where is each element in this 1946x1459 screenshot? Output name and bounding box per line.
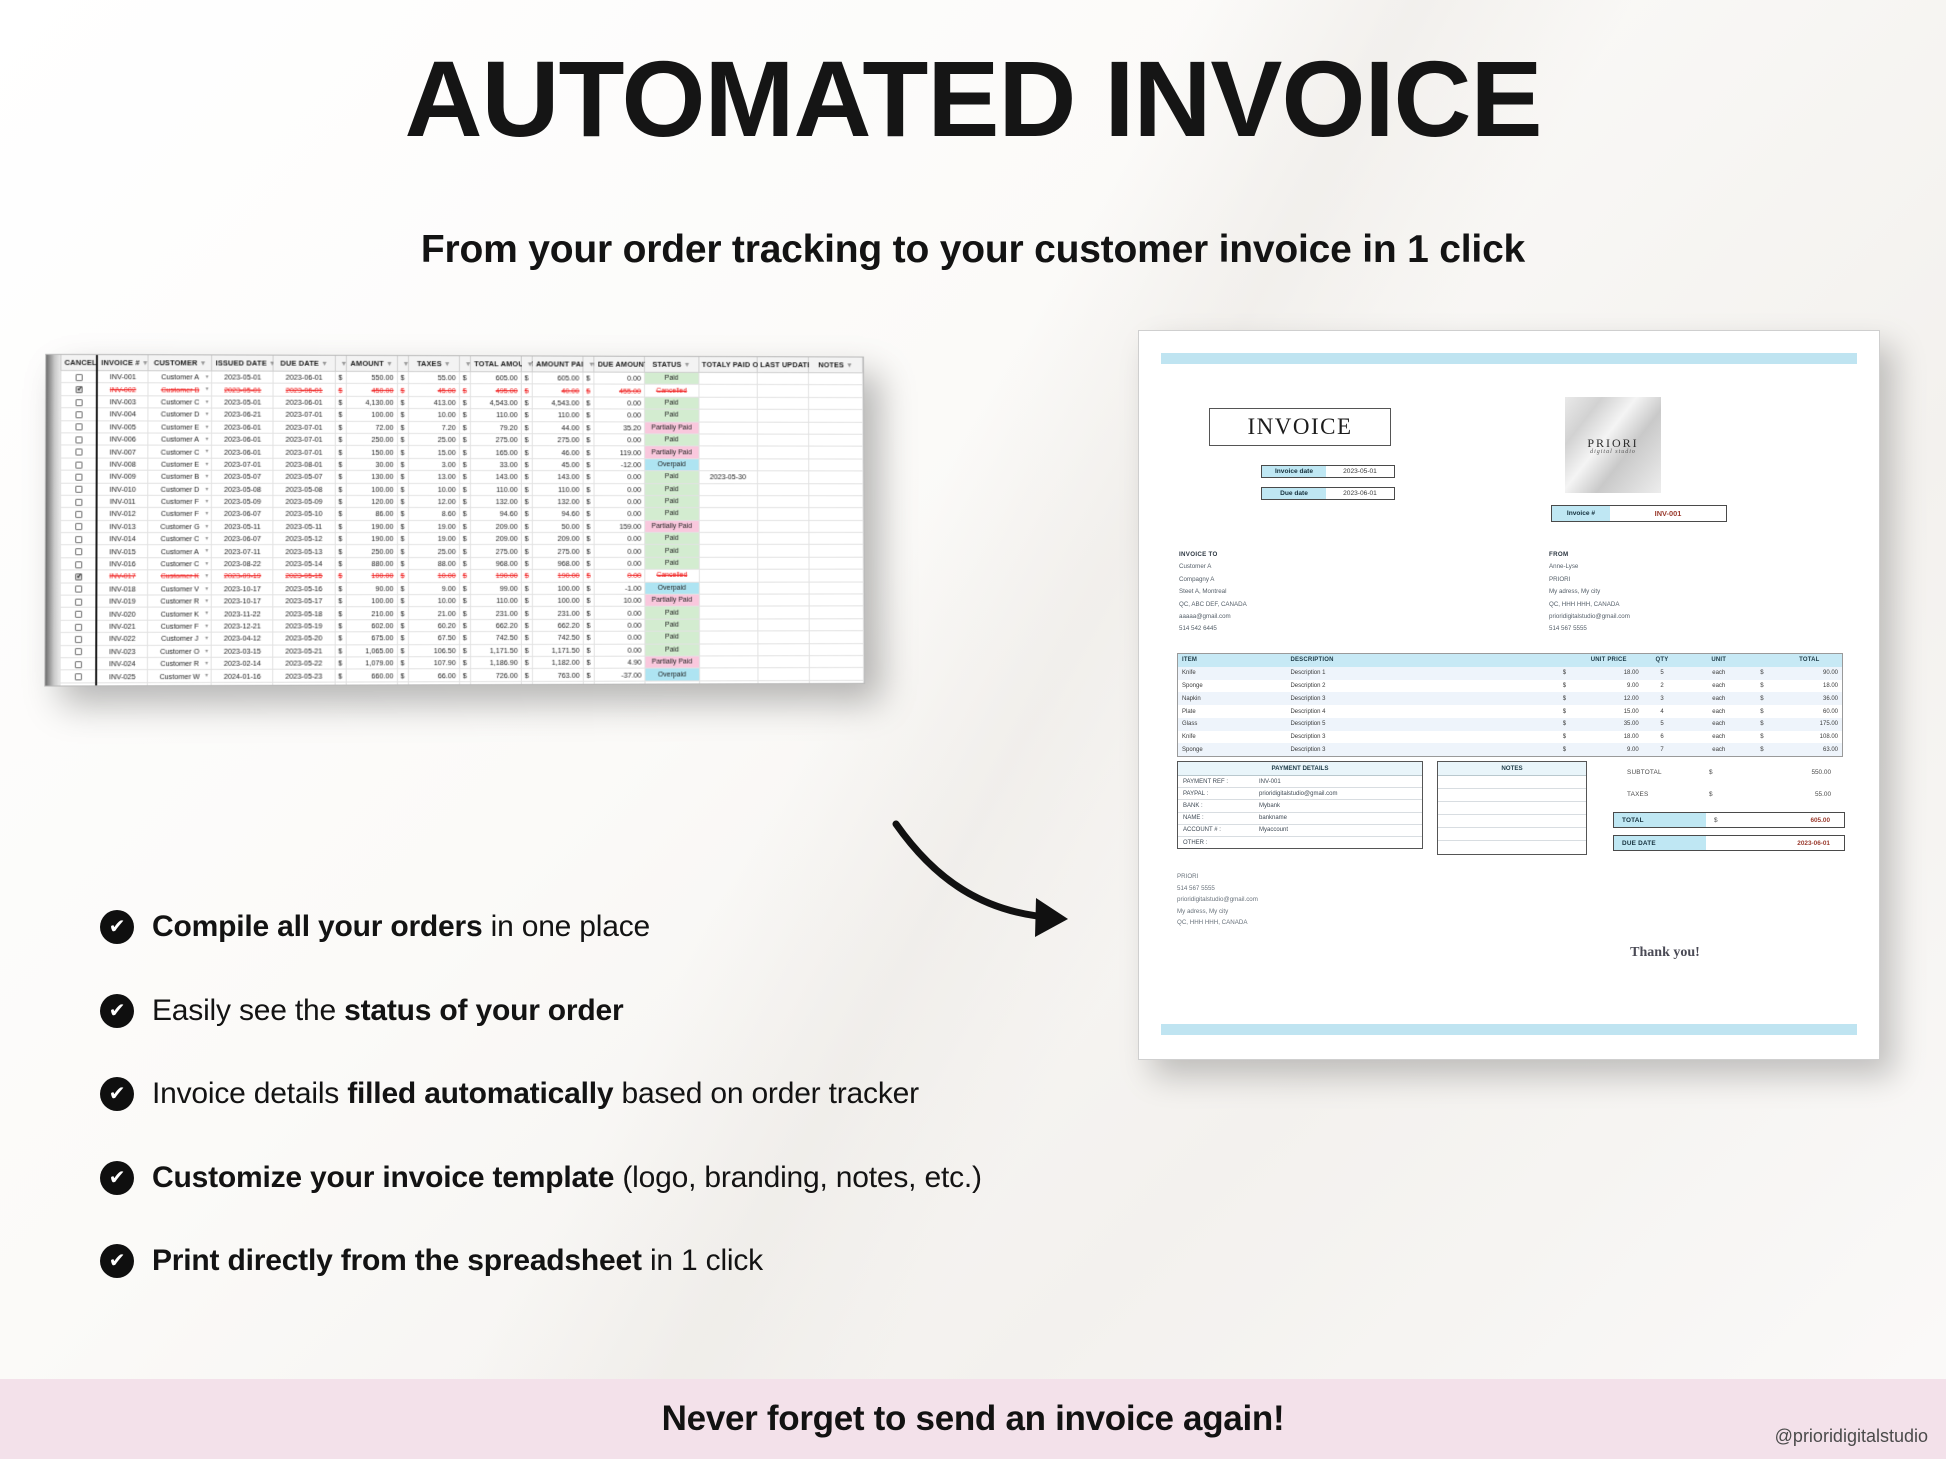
table-row[interactable]: INV-009Customer B▾2023-05-072023-05-07$1… (61, 470, 863, 483)
invoice-number-cell[interactable]: INV-007 (97, 445, 148, 458)
cancel-cell[interactable] (60, 583, 96, 596)
due-amount-cell[interactable]: 0.00 (595, 644, 645, 657)
due-amount-cell[interactable]: 0.00 (594, 434, 644, 446)
column-header-totaly-paid-on[interactable]: TOTALY PAID ON▼ (699, 357, 757, 373)
notes-cell[interactable] (809, 397, 863, 409)
totally-paid-on-cell[interactable] (699, 643, 757, 655)
amount-paid-cell[interactable]: 190.00 (533, 570, 583, 582)
amount-cell[interactable]: 150.00 (346, 446, 397, 458)
status-badge[interactable]: Paid (645, 557, 699, 569)
cancel-cell[interactable] (60, 545, 96, 558)
due-amount-cell[interactable]: 10.00 (595, 594, 645, 606)
total-amount-cell[interactable]: 132.00 (471, 495, 521, 507)
filter-icon[interactable]: ▼ (444, 361, 451, 368)
amount-paid-cell[interactable]: 319.00 (533, 681, 583, 685)
invoice-number-cell[interactable]: INV-022 (97, 632, 148, 645)
total-amount-cell[interactable]: 275.00 (471, 434, 521, 446)
cancel-cell[interactable] (61, 458, 97, 471)
cancel-checkbox[interactable] (75, 511, 82, 518)
total-amount-cell[interactable]: 1,171.50 (471, 644, 521, 657)
issued-date-cell[interactable]: 2024-01-16 (212, 670, 274, 683)
amount-cell[interactable]: 602.00 (346, 620, 397, 633)
due-date-cell[interactable]: 2023-05-12 (273, 533, 334, 545)
status-badge[interactable]: Cancelled (645, 570, 699, 582)
amount-paid-cell[interactable]: 662.20 (533, 619, 583, 631)
totally-paid-on-cell[interactable] (699, 372, 757, 384)
due-date-cell[interactable]: 2023-05-17 (273, 595, 334, 608)
customer-cell[interactable]: Customer E▾ (148, 458, 212, 471)
issued-date-cell[interactable]: 2023-09-19 (212, 570, 274, 583)
issued-date-cell[interactable]: 2023-07-01 (212, 458, 274, 471)
total-amount-cell[interactable]: 231.00 (471, 607, 521, 619)
totally-paid-on-cell[interactable] (699, 533, 757, 545)
cancel-cell[interactable] (61, 470, 97, 483)
total-amount-cell[interactable]: 165.00 (471, 446, 521, 458)
amount-cell[interactable]: 210.00 (346, 607, 397, 620)
chevron-down-icon[interactable]: ▾ (205, 460, 208, 467)
last-update-cell[interactable] (757, 643, 809, 655)
amount-cell[interactable]: 100.00 (346, 595, 397, 608)
invoice-number-cell[interactable]: INV-020 (97, 608, 148, 621)
table-row[interactable]: INV-015Customer A▾2023-07-112023-05-13$2… (60, 545, 863, 558)
status-badge[interactable]: Overpaid (645, 668, 699, 681)
total-amount-cell[interactable]: 495.00 (471, 384, 521, 396)
notes-cell[interactable] (809, 496, 863, 508)
last-update-cell[interactable] (757, 582, 809, 594)
issued-date-cell[interactable]: 2023-06-01 (212, 421, 274, 434)
invoice-number-cell[interactable]: INV-021 (97, 620, 148, 633)
issued-date-cell[interactable]: 2023-06-01 (212, 446, 274, 459)
customer-cell[interactable]: Customer K▾ (148, 570, 212, 583)
chevron-down-icon[interactable]: ▾ (205, 373, 208, 380)
taxes-cell[interactable]: 413.00 (409, 396, 460, 408)
amount-cell[interactable]: 1,079.00 (346, 657, 397, 670)
customer-cell[interactable]: Customer B▾ (148, 383, 212, 396)
cancel-cell[interactable] (61, 433, 97, 446)
total-amount-cell[interactable]: 605.00 (471, 372, 521, 384)
due-date-cell[interactable]: 2023-08-01 (273, 458, 334, 470)
totally-paid-on-cell[interactable] (699, 569, 757, 581)
filter-icon[interactable]: ▼ (200, 360, 207, 367)
status-badge[interactable]: Partially Paid (644, 446, 698, 458)
cancel-checkbox[interactable] (75, 449, 82, 456)
cancel-cell[interactable] (61, 420, 97, 433)
cancel-checkbox[interactable] (75, 661, 82, 668)
taxes-cell[interactable]: 25.00 (409, 545, 460, 557)
status-badge[interactable]: Paid (644, 372, 698, 384)
totally-paid-on-cell[interactable] (699, 619, 757, 631)
table-row[interactable]: INV-006Customer A▾2023-06-012023-07-01$2… (61, 433, 863, 447)
cancel-cell[interactable] (60, 683, 96, 686)
invoice-number-cell[interactable]: INV-019 (97, 595, 148, 608)
notes-cell[interactable] (809, 483, 863, 495)
due-date-cell[interactable]: 2023-05-15 (273, 570, 334, 583)
amount-cell[interactable]: 660.00 (346, 669, 397, 682)
due-amount-cell[interactable]: -1.00 (595, 582, 645, 594)
notes-cell[interactable] (809, 656, 863, 668)
issued-date-cell[interactable]: 2023-05-07 (212, 470, 274, 482)
notes-cell[interactable] (809, 446, 863, 458)
status-badge[interactable]: Cancelled (644, 385, 698, 397)
total-amount-cell[interactable]: 209.00 (471, 520, 521, 532)
issued-date-cell[interactable]: 2023-04-12 (212, 632, 274, 645)
taxes-cell[interactable]: 55.00 (409, 372, 459, 385)
total-amount-cell[interactable]: 143.00 (471, 471, 521, 483)
last-update-cell[interactable] (757, 656, 809, 668)
due-date-cell[interactable]: 2023-07-01 (273, 421, 334, 434)
issued-date-cell[interactable]: 2023-05-09 (212, 495, 274, 507)
customer-cell[interactable]: Customer F▾ (148, 495, 212, 507)
amount-paid-cell[interactable]: 132.00 (533, 495, 583, 507)
invoice-number-cell[interactable]: INV-013 (97, 520, 148, 532)
taxes-cell[interactable]: 19.00 (409, 520, 460, 532)
chevron-down-icon[interactable]: ▾ (205, 647, 208, 654)
total-amount-cell[interactable]: 4,543.00 (471, 396, 521, 408)
column-header-last-update[interactable]: LAST UPDATE▼ (757, 357, 809, 373)
total-amount-cell[interactable]: 726.00 (471, 669, 521, 682)
taxes-cell[interactable]: 106.50 (409, 644, 460, 657)
issued-date-cell[interactable]: 2023-03-15 (212, 645, 274, 658)
last-update-cell[interactable] (757, 619, 809, 631)
total-amount-cell[interactable]: 1,186.90 (471, 656, 521, 669)
issued-date-cell[interactable]: 2023-06-01 (212, 433, 274, 446)
status-badge[interactable]: Partially Paid (644, 422, 698, 434)
amount-cell[interactable]: 190.00 (346, 533, 397, 545)
amount-cell[interactable]: 880.00 (346, 557, 397, 569)
amount-paid-cell[interactable]: 46.00 (533, 446, 583, 458)
invoice-number-cell[interactable]: INV-026 (96, 682, 147, 685)
taxes-cell[interactable]: 45.00 (409, 384, 459, 397)
cancel-cell[interactable] (61, 395, 97, 408)
due-date-cell[interactable]: 2023-05-13 (273, 545, 334, 557)
amount-paid-cell[interactable]: 100.00 (533, 594, 583, 606)
table-row[interactable]: INV-017Customer K▾2023-09-192023-05-15$1… (60, 569, 863, 582)
last-update-cell[interactable] (757, 631, 809, 643)
due-amount-cell[interactable]: -37.00 (595, 668, 645, 681)
cancel-checkbox[interactable] (75, 399, 82, 406)
chevron-down-icon[interactable]: ▾ (205, 535, 208, 542)
due-amount-cell[interactable]: 0.00 (594, 471, 644, 483)
cancel-cell[interactable] (60, 645, 96, 658)
total-amount-cell[interactable]: 33.00 (471, 458, 521, 470)
status-badge[interactable]: Partially Paid (645, 594, 699, 606)
totally-paid-on-cell[interactable] (699, 483, 757, 495)
totally-paid-on-cell[interactable] (699, 668, 757, 681)
due-amount-cell[interactable]: 0.00 (594, 483, 644, 495)
issued-date-cell[interactable]: 2023-06-21 (212, 408, 274, 421)
cancel-cell[interactable] (61, 445, 97, 458)
due-date-cell[interactable]: 2023-06-01 (273, 396, 334, 409)
notes-cell[interactable] (809, 459, 863, 471)
issued-date-cell[interactable]: 2023-10-17 (212, 595, 274, 608)
last-update-cell[interactable] (757, 422, 809, 434)
customer-cell[interactable]: Customer D▾ (148, 408, 212, 421)
due-date-cell[interactable]: 2023-05-24 (273, 682, 334, 686)
cancel-checkbox[interactable] (75, 411, 82, 418)
amount-cell[interactable]: 250.00 (346, 433, 397, 445)
cancel-cell[interactable] (61, 383, 97, 396)
issued-date-cell[interactable]: 2023-08-22 (212, 558, 274, 571)
chevron-down-icon[interactable]: ▾ (205, 386, 208, 393)
invoice-number-cell[interactable]: INV-003 (97, 396, 148, 409)
taxes-cell[interactable]: 107.90 (409, 657, 460, 670)
due-date-cell[interactable]: 2023-06-01 (274, 371, 335, 384)
amount-cell[interactable]: 30.00 (346, 458, 397, 470)
amount-paid-cell[interactable]: 94.60 (533, 508, 583, 520)
due-date-cell[interactable]: 2023-05-19 (273, 620, 334, 633)
status-badge[interactable]: Overpaid (645, 582, 699, 594)
due-date-cell[interactable]: 2023-05-18 (273, 607, 334, 620)
customer-cell[interactable]: Customer A▾ (148, 433, 212, 446)
customer-cell[interactable]: Customer A▾ (148, 545, 212, 558)
customer-cell[interactable]: Customer F▾ (148, 508, 212, 520)
cancel-cell[interactable] (60, 558, 96, 571)
column-header-amount[interactable]: AMOUNT▼ (346, 356, 397, 372)
amount-cell[interactable]: 350.00 (346, 682, 397, 686)
column-header-invoice[interactable]: INVOICE #▼ (97, 355, 148, 371)
status-badge[interactable]: Paid (645, 483, 699, 495)
table-row[interactable]: INV-012Customer F▾2023-06-072023-05-10$8… (61, 508, 864, 520)
last-update-cell[interactable] (757, 668, 809, 680)
amount-cell[interactable]: 86.00 (346, 508, 397, 520)
chevron-down-icon[interactable]: ▾ (205, 622, 208, 629)
last-update-cell[interactable] (757, 459, 809, 471)
total-amount-cell[interactable]: 385.00 (471, 681, 521, 685)
filter-icon[interactable]: ▼ (683, 362, 690, 369)
cancel-checkbox[interactable] (75, 536, 82, 543)
cancel-checkbox[interactable] (75, 499, 82, 506)
cancel-cell[interactable] (60, 658, 96, 671)
notes-cell[interactable] (809, 680, 863, 685)
last-update-cell[interactable] (757, 532, 809, 544)
customer-cell[interactable]: Customer D▾ (148, 483, 212, 495)
due-amount-cell[interactable]: 0.00 (594, 495, 644, 507)
notes-cell[interactable] (809, 545, 863, 557)
due-date-cell[interactable]: 2023-05-16 (273, 582, 334, 595)
customer-cell[interactable]: Customer R▾ (148, 595, 212, 608)
amount-cell[interactable]: 72.00 (346, 421, 397, 433)
column-header-taxes[interactable]: TAXES▼ (409, 356, 459, 372)
amount-paid-cell[interactable]: 50.00 (533, 520, 583, 532)
status-badge[interactable]: Paid (645, 471, 699, 483)
due-date-cell[interactable]: 2023-07-01 (273, 446, 334, 458)
cancel-cell[interactable] (61, 483, 97, 496)
issued-date-cell[interactable]: 2023-12-21 (212, 620, 274, 633)
invoice-number-cell[interactable]: INV-009 (97, 470, 148, 483)
amount-cell[interactable]: 100.00 (346, 570, 397, 582)
totally-paid-on-cell[interactable] (699, 422, 757, 434)
amount-paid-cell[interactable]: 45.00 (533, 458, 583, 470)
last-update-cell[interactable] (757, 545, 809, 557)
due-amount-cell[interactable]: 0.00 (595, 607, 645, 619)
totally-paid-on-cell[interactable] (699, 582, 757, 594)
amount-paid-cell[interactable]: 209.00 (533, 533, 583, 545)
amount-paid-cell[interactable]: 763.00 (533, 669, 583, 682)
customer-cell[interactable]: Customer C▾ (148, 396, 212, 409)
due-date-cell[interactable]: 2023-05-22 (273, 657, 334, 670)
amount-paid-cell[interactable]: 275.00 (533, 545, 583, 557)
due-amount-cell[interactable]: 0.00 (595, 631, 645, 643)
chevron-down-icon[interactable]: ▾ (205, 672, 208, 679)
notes-cell[interactable] (809, 619, 863, 631)
column-header-status[interactable]: STATUS▼ (644, 357, 698, 373)
invoice-number-cell[interactable]: INV-023 (97, 645, 148, 658)
amount-paid-cell[interactable]: 110.00 (533, 409, 583, 421)
cancel-checkbox[interactable] (75, 623, 82, 630)
issued-date-cell[interactable]: 2023-11-22 (212, 607, 274, 620)
chevron-down-icon[interactable]: ▾ (205, 635, 208, 642)
cancel-checkbox[interactable] (75, 586, 82, 593)
taxes-cell[interactable]: 7.20 (409, 421, 460, 433)
notes-cell[interactable] (809, 532, 863, 544)
total-amount-cell[interactable]: 94.60 (471, 508, 521, 520)
table-row[interactable]: INV-011Customer F▾2023-05-092023-05-09$1… (61, 495, 863, 508)
customer-cell[interactable]: Customer O▾ (148, 645, 212, 658)
due-date-cell[interactable]: 2023-05-20 (273, 632, 334, 645)
due-amount-cell[interactable]: 0.00 (595, 570, 645, 582)
due-amount-cell[interactable]: 0.00 (594, 545, 644, 557)
amount-paid-cell[interactable]: 110.00 (533, 483, 583, 495)
total-amount-cell[interactable]: 110.00 (471, 409, 521, 421)
issued-date-cell[interactable]: 2023-02-14 (212, 657, 274, 670)
amount-paid-cell[interactable]: 1,182.00 (533, 656, 583, 669)
notes-cell[interactable] (809, 434, 863, 446)
column-header-notes[interactable]: NOTES▼ (809, 357, 863, 373)
last-update-cell[interactable] (757, 397, 809, 409)
table-row[interactable]: INV-013Customer G▾2023-05-112023-05-11$1… (60, 520, 863, 532)
invoice-number-cell[interactable]: INV-002 (97, 383, 148, 396)
notes-cell[interactable] (809, 471, 863, 483)
invoice-number-cell[interactable]: INV-017 (97, 570, 148, 583)
cancel-checkbox[interactable] (75, 374, 82, 381)
issued-date-cell[interactable]: 2023-07-11 (212, 545, 274, 557)
due-date-cell[interactable]: 2023-05-14 (273, 557, 334, 569)
table-row[interactable]: INV-014Customer C▾2023-06-072023-05-12$1… (60, 532, 863, 545)
cancel-checkbox[interactable] (75, 573, 82, 580)
totally-paid-on-cell[interactable] (699, 409, 757, 421)
taxes-cell[interactable]: 3.00 (409, 458, 460, 470)
due-amount-cell[interactable]: 0.00 (594, 397, 644, 409)
column-header-due-date[interactable]: DUE DATE▼ (274, 356, 335, 372)
table-row[interactable]: INV-016Customer C▾2023-08-222023-05-14$8… (60, 557, 863, 570)
notes-cell[interactable] (809, 410, 863, 422)
notes-cell[interactable] (809, 520, 863, 532)
chevron-down-icon[interactable]: ▾ (205, 436, 208, 443)
issued-date-cell[interactable]: 2023-05-01 (212, 371, 273, 384)
status-badge[interactable]: Paid (645, 508, 699, 520)
total-amount-cell[interactable]: 99.00 (471, 582, 521, 594)
amount-cell[interactable]: 450.00 (346, 384, 397, 397)
invoice-number-cell[interactable]: INV-011 (97, 495, 148, 507)
amount-cell[interactable]: 4,130.00 (346, 396, 397, 409)
issued-date-cell[interactable]: 2023-05-24 (212, 682, 274, 685)
cancel-cell[interactable] (60, 595, 96, 608)
table-row[interactable]: INV-008Customer E▾2023-07-012023-08-01$3… (61, 458, 863, 471)
chevron-down-icon[interactable]: ▾ (205, 510, 208, 517)
notes-cell[interactable] (809, 508, 863, 520)
notes-cell[interactable] (809, 557, 863, 569)
cancel-checkbox[interactable] (75, 548, 82, 555)
cancel-checkbox[interactable] (75, 424, 82, 431)
issued-date-cell[interactable]: 2023-10-17 (212, 582, 274, 595)
status-badge[interactable]: Paid (644, 397, 698, 409)
invoice-number-cell[interactable]: INV-025 (96, 670, 147, 683)
amount-paid-cell[interactable]: 231.00 (533, 607, 583, 619)
issued-date-cell[interactable]: 2023-05-01 (212, 383, 273, 396)
status-badge[interactable]: Paid (644, 409, 698, 421)
due-amount-cell[interactable]: 159.00 (594, 520, 644, 532)
cancel-checkbox[interactable] (75, 523, 82, 530)
last-update-cell[interactable] (757, 373, 809, 385)
chevron-down-icon[interactable]: ▾ (205, 548, 208, 555)
taxes-cell[interactable]: 10.00 (409, 570, 460, 582)
due-amount-cell[interactable]: 4.90 (595, 656, 645, 669)
status-badge[interactable]: Paid (645, 496, 699, 508)
amount-cell[interactable]: 675.00 (346, 632, 397, 645)
invoice-number-cell[interactable]: INV-016 (97, 558, 148, 571)
invoice-number-cell[interactable]: INV-008 (97, 458, 148, 471)
chevron-down-icon[interactable]: ▾ (205, 685, 208, 686)
due-date-cell[interactable]: 2023-06-01 (273, 384, 334, 397)
totally-paid-on-cell[interactable] (699, 397, 757, 409)
due-date-cell[interactable]: 2023-07-01 (273, 408, 334, 421)
due-date-cell[interactable]: 2023-05-08 (273, 483, 334, 495)
totally-paid-on-cell[interactable] (699, 385, 757, 397)
cancel-cell[interactable] (61, 508, 97, 520)
invoice-number-cell[interactable]: INV-006 (97, 433, 148, 446)
customer-cell[interactable]: Customer J▾ (148, 632, 212, 645)
totally-paid-on-cell[interactable] (699, 557, 757, 569)
due-date-cell[interactable]: 2023-05-07 (273, 470, 334, 482)
cancel-cell[interactable] (60, 633, 96, 646)
customer-cell[interactable]: Customer A▾ (148, 371, 212, 384)
total-amount-cell[interactable]: 110.00 (471, 594, 521, 606)
invoice-number-cell[interactable]: INV-014 (97, 533, 148, 545)
customer-cell[interactable]: Customer G▾ (148, 520, 212, 532)
total-amount-cell[interactable]: 742.50 (471, 632, 521, 645)
customer-cell[interactable]: Customer C▾ (148, 558, 212, 571)
taxes-cell[interactable]: 21.00 (409, 607, 460, 620)
chevron-down-icon[interactable]: ▾ (205, 411, 208, 418)
taxes-cell[interactable]: 67.50 (409, 632, 460, 645)
totally-paid-on-cell[interactable] (699, 508, 757, 520)
taxes-cell[interactable]: 12.00 (409, 495, 460, 507)
totally-paid-on-cell[interactable] (699, 631, 757, 643)
table-row[interactable]: INV-007Customer C▾2023-06-012023-07-01$1… (61, 445, 863, 458)
amount-cell[interactable]: 250.00 (346, 545, 397, 557)
notes-cell[interactable] (809, 643, 863, 655)
issued-date-cell[interactable]: 2023-05-11 (212, 520, 274, 532)
notes-cell[interactable] (809, 606, 863, 618)
amount-cell[interactable]: 130.00 (346, 471, 397, 483)
taxes-cell[interactable]: 15.00 (409, 446, 460, 458)
taxes-cell[interactable]: 60.20 (409, 619, 460, 632)
status-badge[interactable]: Paid (645, 644, 699, 657)
last-update-cell[interactable] (757, 434, 809, 446)
notes-cell[interactable] (809, 668, 863, 680)
customer-cell[interactable]: Customer B▾ (148, 470, 212, 483)
amount-cell[interactable]: 100.00 (346, 409, 397, 421)
notes-cell[interactable] (809, 631, 863, 643)
status-badge[interactable]: Paid (645, 533, 699, 545)
notes-cell[interactable] (809, 594, 863, 606)
cancel-checkbox[interactable] (75, 436, 82, 443)
cancel-cell[interactable] (60, 670, 96, 683)
due-date-cell[interactable]: 2023-05-10 (273, 508, 334, 520)
chevron-down-icon[interactable]: ▾ (205, 398, 208, 405)
chevron-down-icon[interactable]: ▾ (205, 485, 208, 492)
chevron-down-icon[interactable]: ▾ (205, 660, 208, 667)
